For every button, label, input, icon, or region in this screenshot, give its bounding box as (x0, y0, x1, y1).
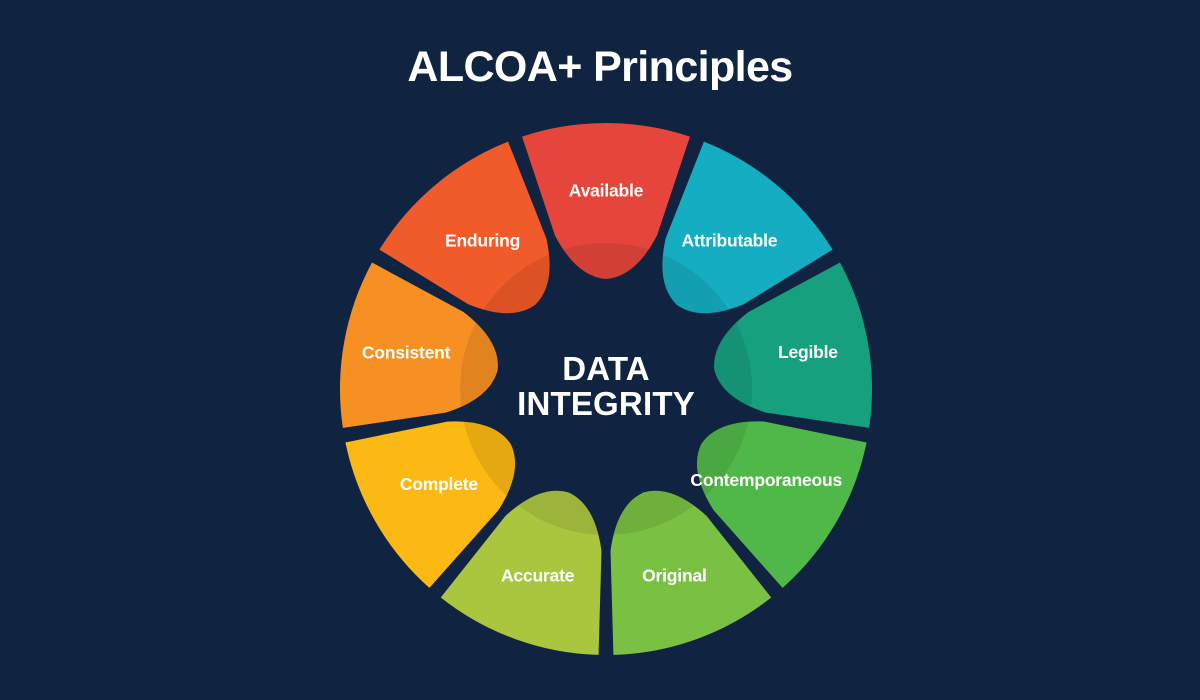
segment-label-available: Available (569, 181, 644, 201)
segment-label-accurate: Accurate (501, 566, 575, 586)
center-label-line-1: DATA (562, 350, 650, 387)
alcoa-principles-infographic: ALCOA+ Principles AvailableAttributableL… (0, 0, 1200, 700)
segment-label-attributable: Attributable (682, 231, 778, 251)
segment-label-contemporaneous: Contemporaneous (690, 470, 842, 490)
alcoa-wheel-diagram: AvailableAttributableLegibleContemporane… (0, 0, 1200, 700)
segment-label-enduring: Enduring (445, 231, 520, 251)
segment-label-original: Original (642, 566, 707, 586)
segment-label-consistent: Consistent (362, 342, 451, 362)
segment-label-legible: Legible (778, 342, 838, 362)
center-label-line-2: INTEGRITY (517, 385, 695, 422)
segment-label-complete: Complete (400, 474, 479, 494)
